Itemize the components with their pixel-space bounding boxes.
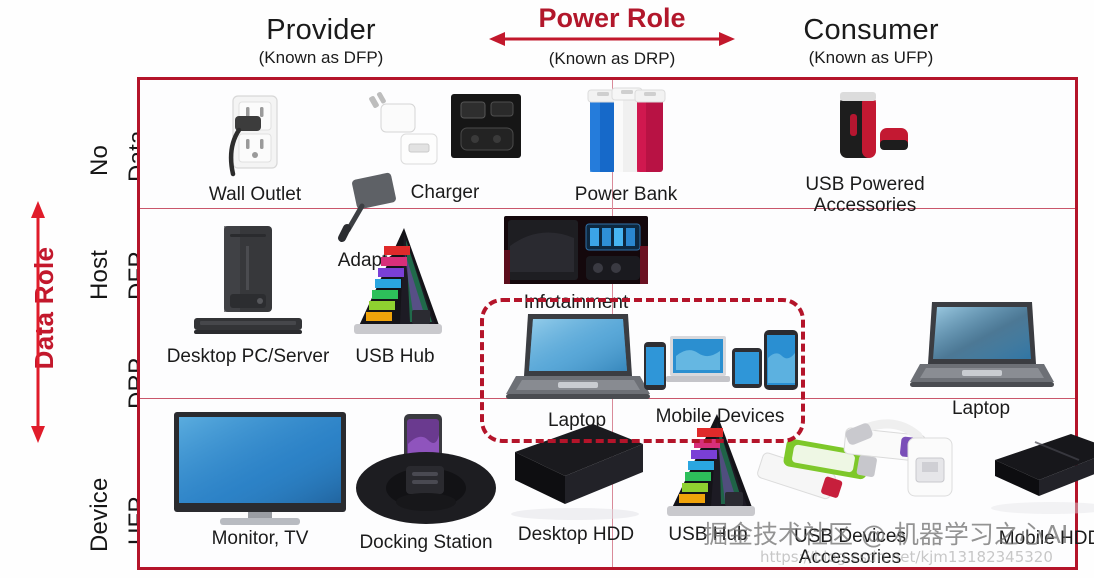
watermark-text: 掘金技术社区 @ 机器学习之心AI (703, 515, 1094, 551)
item-usb-hub-top[interactable]: USB Hub (320, 224, 470, 368)
usb-hub-top-label: USB Hub (320, 347, 470, 368)
watermark-subtext: https://blog.csdn.net/kjm13182345320 (760, 548, 1094, 566)
usb-type-c-role-matrix: Provider (Known as DFP) Power Role (Know… (0, 0, 1094, 578)
data-role-arrow (29, 200, 47, 449)
power-role-header: Power Role (Known as DRP) (462, 4, 762, 69)
charger-icon (362, 90, 528, 183)
usb-powered-accessories-label-line2: Accessories (740, 196, 990, 217)
mobile-devices-icon (620, 320, 820, 407)
row-label-device-line1: Device (86, 477, 114, 552)
provider-subtitle: (Known as DFP) (180, 47, 462, 68)
power-bank-label: Power Bank (536, 185, 716, 206)
provider-title: Provider (180, 16, 462, 46)
consumer-column-header: Consumer (Known as UFP) (728, 16, 1014, 68)
consumer-subtitle: (Known as UFP) (728, 47, 1014, 68)
power-role-arrow (462, 31, 762, 47)
desktop-pc-label: Desktop PC/Server (148, 347, 348, 368)
laptop-consumer-label: Laptop (886, 399, 1076, 420)
power-role-title: Power Role (462, 4, 762, 32)
role-matrix-grid: Wall Outlet (137, 77, 1078, 570)
usb-devices-icon (730, 418, 970, 527)
usb-powered-accessories-label-line1: USB Powered (740, 175, 990, 196)
desktop-pc-icon (148, 222, 348, 347)
row-label-no-data-line1: No (86, 145, 114, 176)
laptop-icon (886, 298, 1076, 399)
usb-shaver-icon (740, 88, 990, 175)
power-role-subtitle: (Known as DRP) (462, 49, 762, 69)
infotainment-icon (476, 216, 676, 293)
item-laptop-consumer[interactable]: Laptop (886, 298, 1076, 420)
item-usb-powered-accessories[interactable]: USB Powered Accessories (740, 88, 990, 216)
item-desktop-pc-server[interactable]: Desktop PC/Server (148, 222, 348, 368)
provider-column-header: Provider (Known as DFP) (180, 16, 462, 68)
item-infotainment[interactable]: Infotainment (476, 216, 676, 314)
consumer-title: Consumer (728, 16, 1014, 46)
item-power-bank[interactable]: Power Bank (536, 86, 716, 206)
power-bank-icon (536, 86, 716, 187)
usb-hub-icon (320, 224, 470, 347)
row-label-host-line1: Host (86, 250, 114, 300)
